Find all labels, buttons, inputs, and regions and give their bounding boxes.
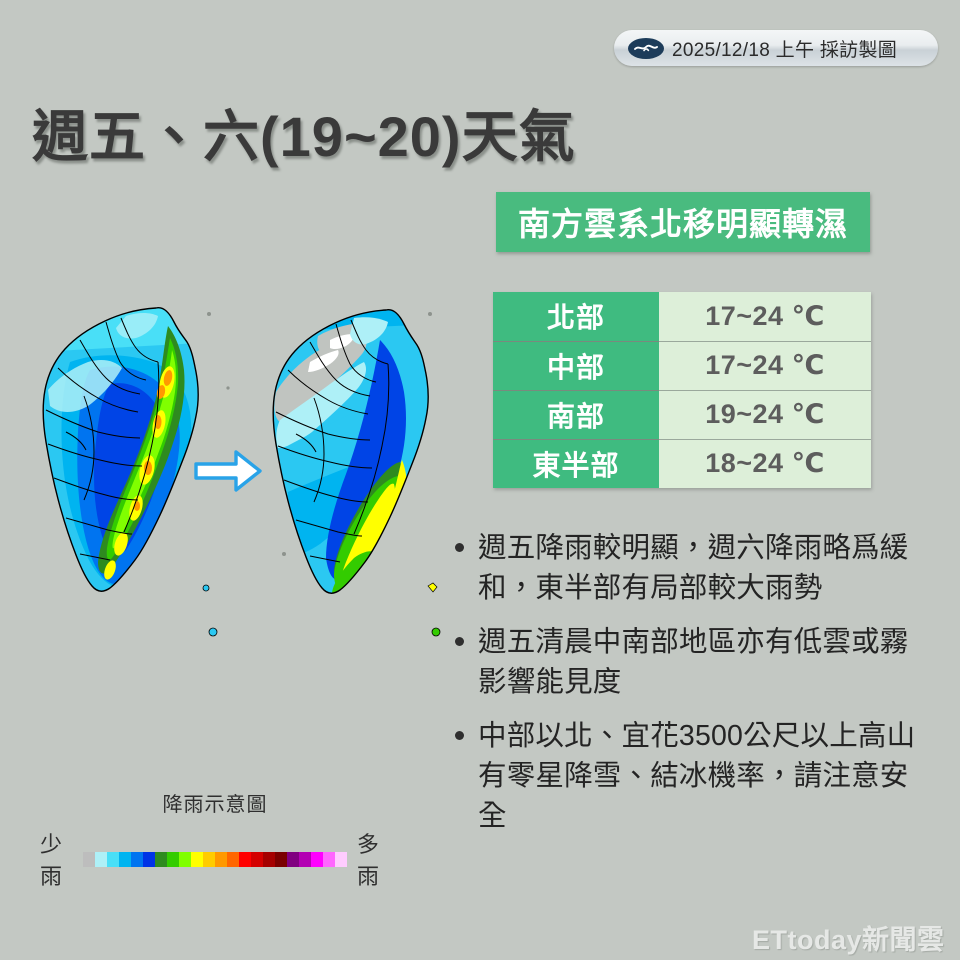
legend-swatch-12 <box>227 852 239 867</box>
legend-swatch-21 <box>335 852 347 867</box>
cwa-bird-logo-icon <box>628 38 664 59</box>
headline-banner: 南方雲系北移明顯轉濕 <box>496 192 870 252</box>
rainfall-legend: 降雨示意圖 少雨 多雨 <box>40 788 390 891</box>
list-item: 中部以北、宜花3500公尺以上高山有零星降雪、結冰機率，請注意安全 <box>455 716 925 836</box>
legend-swatch-9 <box>191 852 203 867</box>
bullet-text: 週五清晨中南部地區亦有低雲或霧影響能見度 <box>478 622 925 702</box>
legend-swatch-6 <box>155 852 167 867</box>
forecast-bullet-list: 週五降雨較明顯，週六降雨略爲緩和，東半部有局部較大雨勢 週五清晨中南部地區亦有低… <box>455 528 925 850</box>
header-badge: 2025/12/18 上午 採訪製圖 <box>614 30 938 66</box>
temperature-range-value: 18~24 ℃ <box>659 439 871 488</box>
legend-color-bar <box>83 852 347 867</box>
legend-scale-row: 少雨 多雨 <box>40 827 390 891</box>
right-arrow-icon <box>192 446 264 496</box>
legend-swatch-19 <box>311 852 323 867</box>
legend-swatch-18 <box>299 852 311 867</box>
legend-swatch-10 <box>203 852 215 867</box>
legend-swatch-17 <box>287 852 299 867</box>
legend-swatch-14 <box>251 852 263 867</box>
table-row: 中部 17~24 ℃ <box>493 341 871 390</box>
legend-swatch-20 <box>323 852 335 867</box>
bullet-text: 週五降雨較明顯，週六降雨略爲緩和，東半部有局部較大雨勢 <box>478 528 925 608</box>
legend-swatch-1 <box>95 852 107 867</box>
region-label: 中部 <box>493 341 659 390</box>
table-row: 北部 17~24 ℃ <box>493 292 871 341</box>
table-row: 東半部 18~24 ℃ <box>493 439 871 488</box>
temperature-range-value: 17~24 ℃ <box>659 292 871 341</box>
legend-max-label: 多雨 <box>357 827 390 891</box>
headline-banner-label: 南方雲系北移明顯轉濕 <box>518 199 848 245</box>
page-title: 週五、六(19~20)天氣 <box>32 92 576 173</box>
legend-min-label: 少雨 <box>40 827 73 891</box>
temperature-range-value: 17~24 ℃ <box>659 341 871 390</box>
region-label: 東半部 <box>493 439 659 488</box>
legend-swatch-5 <box>143 852 155 867</box>
ettoday-watermark: ETtoday新聞雲 <box>752 918 945 957</box>
legend-swatch-7 <box>167 852 179 867</box>
legend-swatch-4 <box>131 852 143 867</box>
legend-swatch-8 <box>179 852 191 867</box>
legend-swatch-3 <box>119 852 131 867</box>
temperature-range-value: 19~24 ℃ <box>659 390 871 439</box>
bullet-text: 中部以北、宜花3500公尺以上高山有零星降雪、結冰機率，請注意安全 <box>478 716 925 836</box>
list-item: 週五清晨中南部地區亦有低雲或霧影響能見度 <box>455 622 925 702</box>
badge-timestamp-label: 2025/12/18 上午 採訪製圖 <box>672 35 897 62</box>
bullet-dot-icon <box>455 731 464 740</box>
legend-swatch-11 <box>215 852 227 867</box>
rainfall-map-saturday <box>258 292 463 672</box>
legend-swatch-16 <box>275 852 287 867</box>
legend-swatch-13 <box>239 852 251 867</box>
region-label: 南部 <box>493 390 659 439</box>
legend-swatch-0 <box>83 852 95 867</box>
legend-swatch-15 <box>263 852 275 867</box>
legend-title: 降雨示意圖 <box>40 788 390 817</box>
legend-swatch-2 <box>107 852 119 867</box>
region-label: 北部 <box>493 292 659 341</box>
list-item: 週五降雨較明顯，週六降雨略爲緩和，東半部有局部較大雨勢 <box>455 528 925 608</box>
temperature-table: 北部 17~24 ℃ 中部 17~24 ℃ 南部 19~24 ℃ 東半部 18~… <box>493 292 871 488</box>
weather-infographic: 2025/12/18 上午 採訪製圖 週五、六(19~20)天氣 南方雲系北移明… <box>0 0 960 960</box>
table-row: 南部 19~24 ℃ <box>493 390 871 439</box>
